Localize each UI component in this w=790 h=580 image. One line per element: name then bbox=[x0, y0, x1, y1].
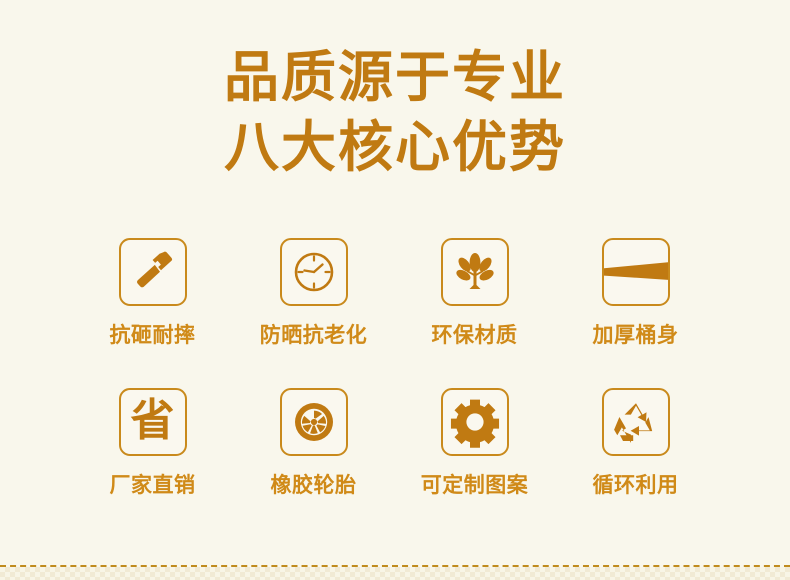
feature-grid: 抗砸耐摔 bbox=[72, 238, 718, 538]
feature-label: 环保材质 bbox=[432, 323, 518, 347]
tire-wheel-icon bbox=[289, 397, 339, 447]
tree-icon-box bbox=[441, 238, 509, 306]
feature-item-thickened-body: 加厚桶身 bbox=[555, 238, 716, 388]
feature-item-eco-material: 环保材质 bbox=[394, 238, 555, 388]
save-character-icon-box: 省 bbox=[119, 388, 187, 456]
feature-item-rubber-tires: 橡胶轮胎 bbox=[233, 388, 394, 538]
page-title-line-2: 八大核心优势 bbox=[0, 116, 790, 178]
feature-label: 抗砸耐摔 bbox=[110, 323, 196, 347]
bottom-texture-strip bbox=[0, 567, 790, 580]
feature-label: 循环利用 bbox=[593, 473, 679, 497]
thick-wall-wedge-icon-box bbox=[602, 238, 670, 306]
feature-item-custom-pattern: 可定制图案 bbox=[394, 388, 555, 538]
feature-label: 加厚桶身 bbox=[593, 323, 679, 347]
feature-item-uv-aging-resistant: 防晒抗老化 bbox=[233, 238, 394, 388]
feature-item-recyclable: 循环利用 bbox=[555, 388, 716, 538]
tire-wheel-icon-box bbox=[280, 388, 348, 456]
feature-label: 可定制图案 bbox=[421, 473, 529, 497]
recycle-icon-box bbox=[602, 388, 670, 456]
hammer-icon bbox=[128, 247, 178, 297]
page-title-line-1: 品质源于专业 bbox=[0, 46, 790, 108]
thick-wall-wedge-icon bbox=[602, 238, 670, 306]
tree-icon bbox=[450, 247, 500, 297]
feature-item-impact-resistant: 抗砸耐摔 bbox=[72, 238, 233, 388]
feature-item-factory-direct: 省 厂家直销 bbox=[72, 388, 233, 538]
clock-icon-box bbox=[280, 238, 348, 306]
recycle-icon bbox=[611, 397, 661, 447]
promo-banner: 品质源于专业 八大核心优势 抗砸耐摔 bbox=[0, 0, 790, 580]
page-title: 品质源于专业 八大核心优势 bbox=[0, 46, 790, 178]
save-character-icon: 省 bbox=[131, 399, 175, 445]
clock-icon bbox=[289, 247, 339, 297]
feature-label: 防晒抗老化 bbox=[260, 323, 368, 347]
gear-icon bbox=[449, 396, 501, 448]
gear-icon-box bbox=[441, 388, 509, 456]
feature-label: 橡胶轮胎 bbox=[271, 473, 357, 497]
hammer-icon-box bbox=[119, 238, 187, 306]
feature-label: 厂家直销 bbox=[110, 473, 196, 497]
